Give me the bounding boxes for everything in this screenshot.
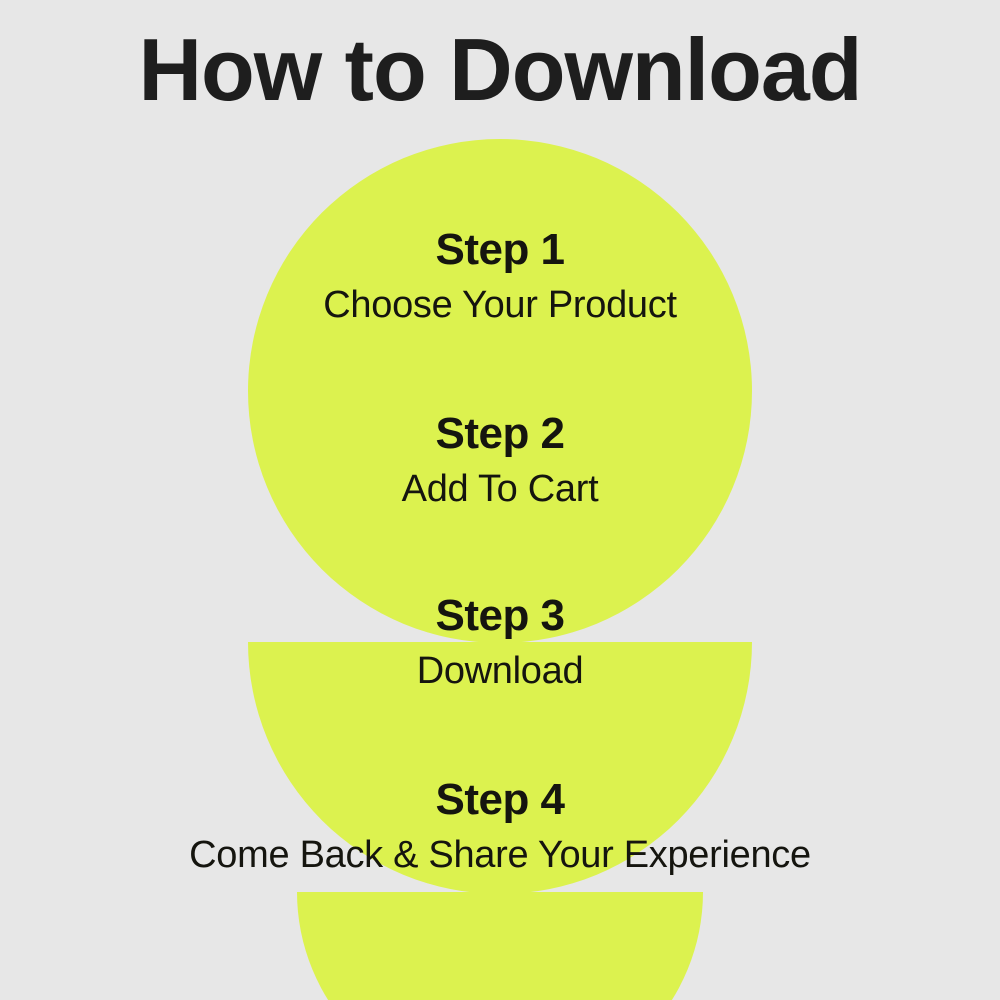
step-heading-2: Step 2: [0, 412, 1000, 456]
step-item-2: Step 2 Add To Cart: [0, 412, 1000, 508]
page-title: How to Download: [0, 26, 1000, 114]
step-caption-3: Download: [0, 652, 1000, 690]
step-caption-1: Choose Your Product: [0, 286, 1000, 324]
step-item-1: Step 1 Choose Your Product: [0, 228, 1000, 324]
step-item-3: Step 3 Download: [0, 594, 1000, 690]
step-heading-4: Step 4: [0, 778, 1000, 822]
step-caption-2: Add To Cart: [0, 470, 1000, 508]
step-caption-4: Come Back & Share Your Experience: [0, 836, 1000, 874]
step-heading-1: Step 1: [0, 228, 1000, 272]
content-layer: How to Download Step 1 Choose Your Produ…: [0, 0, 1000, 1000]
infographic-canvas: How to Download Step 1 Choose Your Produ…: [0, 0, 1000, 1000]
step-item-4: Step 4 Come Back & Share Your Experience: [0, 778, 1000, 874]
step-heading-3: Step 3: [0, 594, 1000, 638]
